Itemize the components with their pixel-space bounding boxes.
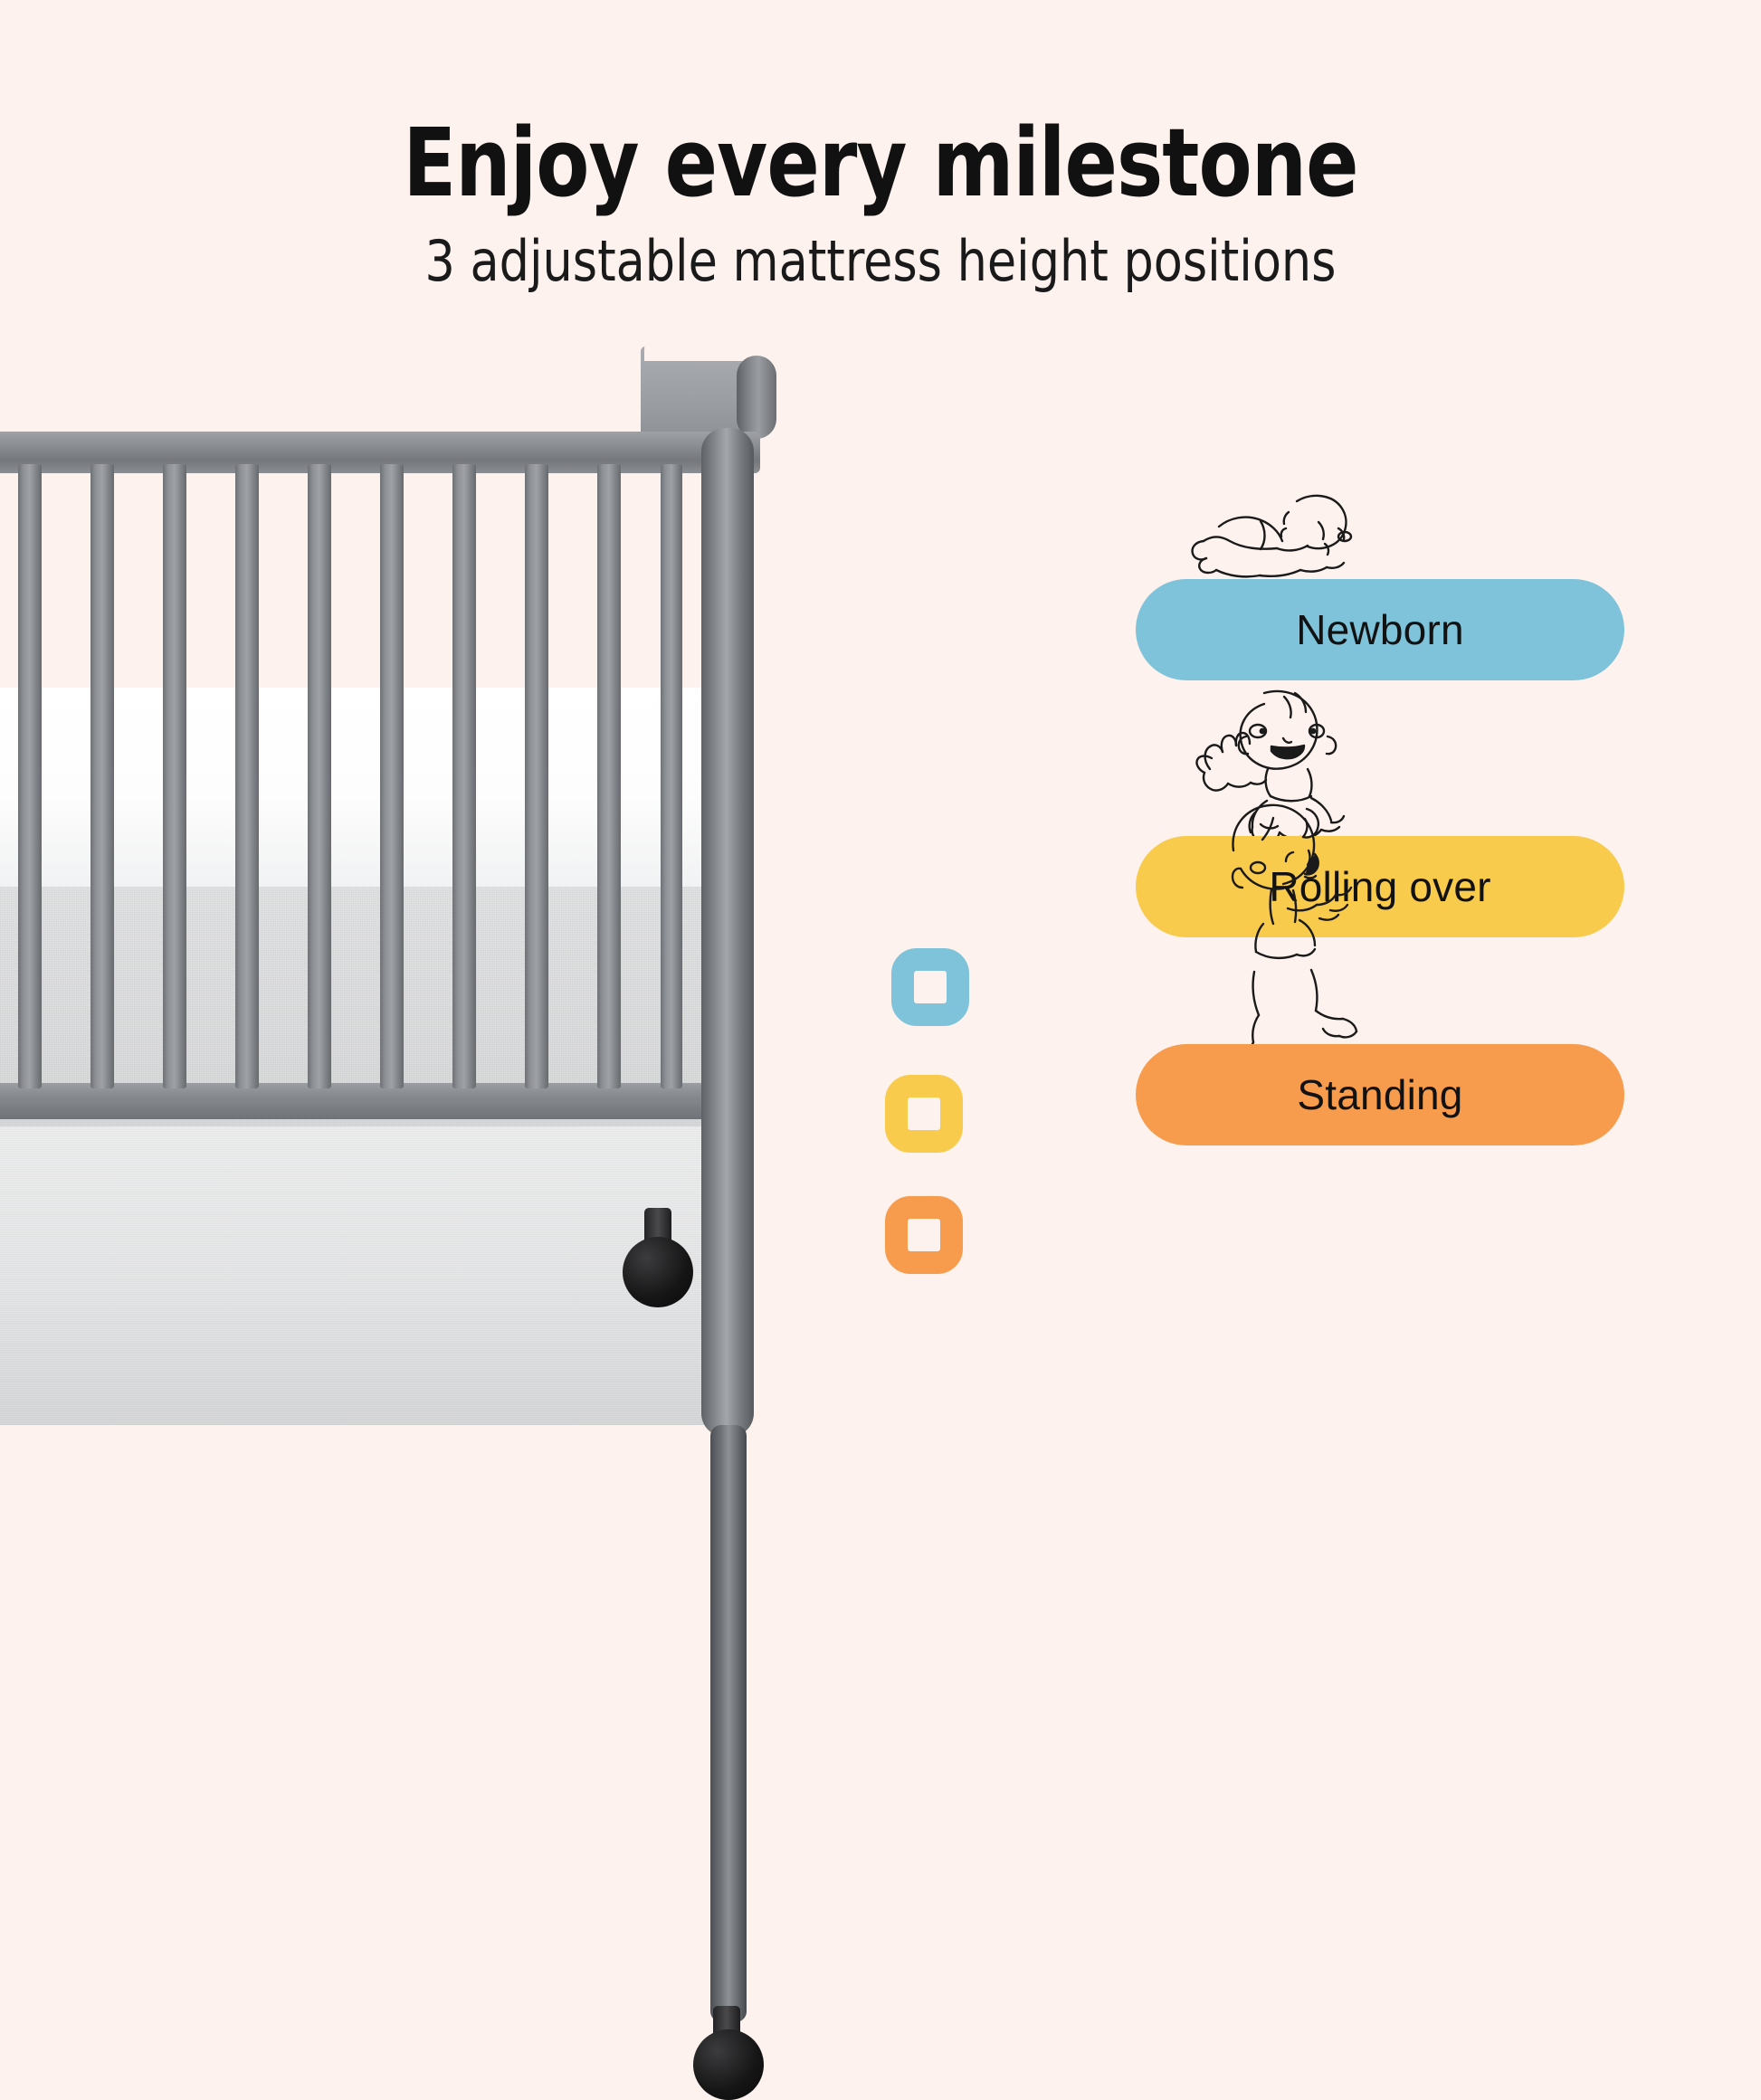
crib-slat (452, 464, 476, 1088)
crib-slat (18, 464, 42, 1088)
crib-headboard (641, 347, 749, 437)
crib-slat (163, 464, 186, 1088)
milestone-list: Newborn (1136, 579, 1661, 1145)
milestone-pill-newborn[interactable]: Newborn (1136, 579, 1624, 680)
standing-baby-icon (1156, 800, 1364, 1062)
infographic-canvas: Enjoy every milestone 3 adjustable mattr… (0, 0, 1761, 1761)
crib-slat (661, 464, 682, 1088)
newborn-position-marker (891, 948, 969, 1026)
milestone-label: Standing (1297, 1070, 1462, 1119)
crib-slat (235, 464, 259, 1088)
page-title: Enjoy every milestone (71, 116, 1690, 210)
rolling-over-position-marker (885, 1075, 963, 1153)
crib-slat (90, 464, 114, 1088)
crib-slat (597, 464, 621, 1088)
milestone-label: Newborn (1296, 605, 1464, 654)
milestone-pill-standing[interactable]: Standing (1136, 1044, 1624, 1145)
crib-slat (380, 464, 404, 1088)
crib-corner-post (701, 428, 754, 1437)
crib-slat (308, 464, 331, 1088)
milestone-row-newborn: Newborn (1136, 579, 1624, 680)
milestone-row-standing: Standing (1136, 1044, 1624, 1145)
crib-corner-finial (737, 356, 776, 439)
crib-slat (525, 464, 548, 1088)
header: Enjoy every milestone 3 adjustable mattr… (0, 0, 1761, 290)
crib-product-photo (0, 412, 860, 1769)
standing-position-marker (885, 1196, 963, 1274)
caster-wheel (693, 2029, 764, 2100)
crib-lower-leg (710, 1425, 747, 2022)
caster-wheel (623, 1237, 693, 1307)
crib-bottom-rail (0, 1083, 733, 1119)
page-subtitle: 3 adjustable mattress height positions (52, 233, 1708, 290)
